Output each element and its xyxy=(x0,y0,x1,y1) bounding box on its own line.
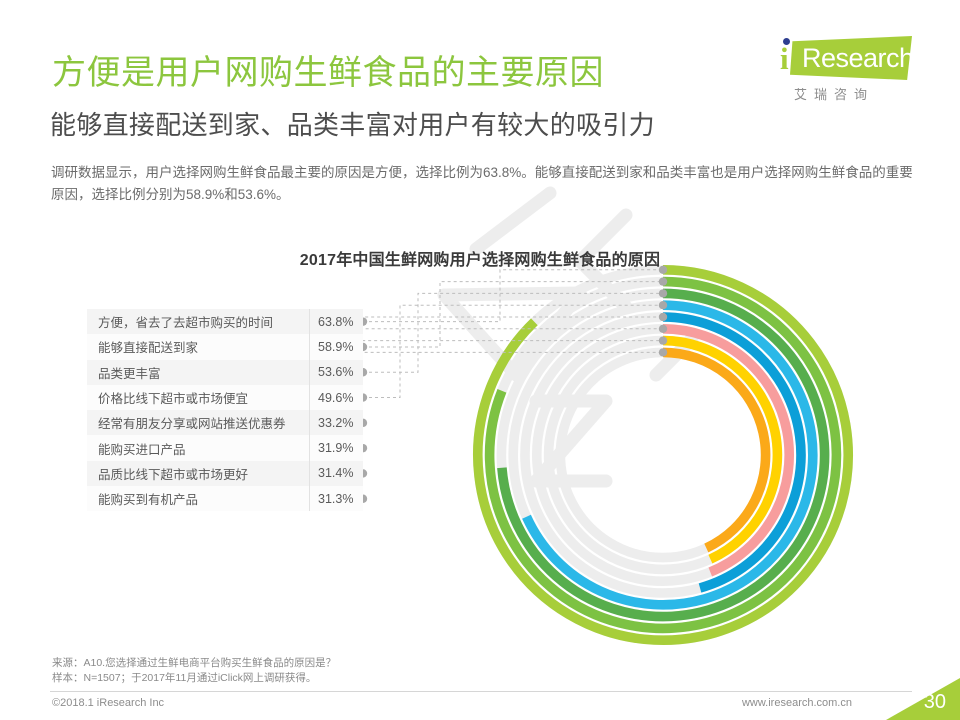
source-line-2: 样本：N=1507；于2017年11月通过iClick网上调研获得。 xyxy=(52,671,336,686)
row-label: 经常有朋友分享或网站推送优惠券 xyxy=(87,413,309,432)
row-label: 品质比线下超市或市场更好 xyxy=(87,464,309,483)
row-value: 31.3% xyxy=(309,486,363,511)
data-table: 方便，省去了去超市购买的时间63.8%能够直接配送到家58.9%品类更丰富53.… xyxy=(87,309,363,511)
row-value: 63.8% xyxy=(309,309,363,334)
copyright-text: ©2018.1 iResearch Inc xyxy=(52,697,164,709)
table-row: 价格比线下超市或市场便宜49.6% xyxy=(87,385,363,410)
slide-canvas: i Research 艾瑞咨询 方便是用户网购生鲜食品的主要原因 能够直接配送到… xyxy=(0,0,960,720)
row-label: 能购买进口产品 xyxy=(87,439,309,458)
logo-chinese-name: 艾瑞咨询 xyxy=(794,84,874,103)
row-value: 31.4% xyxy=(309,461,363,486)
iresearch-logo: i Research 艾瑞咨询 xyxy=(780,36,918,108)
website-url: www.iresearch.com.cn xyxy=(742,697,852,709)
page-title: 方便是用户网购生鲜食品的主要原因 xyxy=(52,52,604,94)
footer-divider xyxy=(50,691,912,692)
row-label: 能购买到有机产品 xyxy=(87,489,309,508)
row-label: 能够直接配送到家 xyxy=(87,337,309,356)
page-subtitle: 能够直接配送到家、品类丰富对用户有较大的吸引力 xyxy=(50,108,655,142)
page-number: 30 xyxy=(924,691,946,714)
table-row: 能购买到有机产品31.3% xyxy=(87,486,363,511)
table-row: 品类更丰富53.6% xyxy=(87,360,363,385)
table-row: 能购买进口产品31.9% xyxy=(87,435,363,460)
table-row: 经常有朋友分享或网站推送优惠券33.2% xyxy=(87,410,363,435)
logo-mark: i Research xyxy=(780,36,912,82)
table-row: 品质比线下超市或市场更好31.4% xyxy=(87,461,363,486)
row-label: 品类更丰富 xyxy=(87,363,309,382)
row-label: 价格比线下超市或市场便宜 xyxy=(87,388,309,407)
row-value: 58.9% xyxy=(309,334,363,359)
table-row: 方便，省去了去超市购买的时间63.8% xyxy=(87,309,363,334)
row-value: 31.9% xyxy=(309,435,363,460)
row-value: 49.6% xyxy=(309,385,363,410)
source-line-1: 来源：A10.您选择通过生鲜电商平台购买生鲜食品的原因是？ xyxy=(52,656,336,671)
logo-dot-icon xyxy=(783,38,790,45)
chart-title: 2017年中国生鲜网购用户选择网购生鲜食品的原因 xyxy=(0,246,960,270)
radial-bar-chart xyxy=(468,260,858,650)
row-value: 53.6% xyxy=(309,360,363,385)
summary-paragraph: 调研数据显示，用户选择网购生鲜食品最主要的原因是方便，选择比例为63.8%。能够… xyxy=(51,162,913,206)
row-label: 方便，省去了去超市购买的时间 xyxy=(87,312,309,331)
source-note: 来源：A10.您选择通过生鲜电商平台购买生鲜食品的原因是？ 样本：N=1507；… xyxy=(52,656,336,686)
logo-letter-i: i xyxy=(780,43,789,74)
logo-wordmark: Research xyxy=(802,43,914,73)
row-value: 33.2% xyxy=(309,410,363,435)
table-row: 能够直接配送到家58.9% xyxy=(87,334,363,359)
